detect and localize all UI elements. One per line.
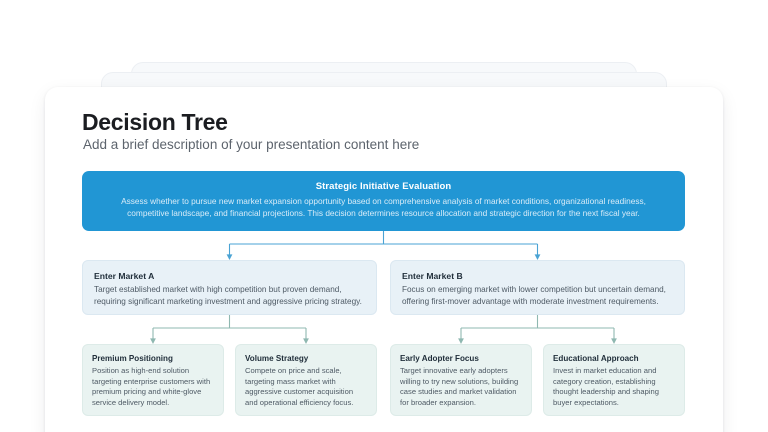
root-node-description: Assess whether to pursue new market expa…	[104, 195, 663, 219]
decision-tree: Strategic Initiative Evaluation Assess w…	[45, 87, 723, 432]
leaf-4-title: Educational Approach	[553, 353, 675, 364]
leaf-1-description: Position as high-end solution targeting …	[92, 366, 214, 408]
leaf-1-title: Premium Positioning	[92, 353, 214, 364]
branch-a-title: Enter Market A	[94, 270, 365, 282]
branch-b-description: Focus on emerging market with lower comp…	[402, 284, 673, 307]
tree-node-root[interactable]: Strategic Initiative Evaluation Assess w…	[82, 171, 685, 231]
leaf-2-title: Volume Strategy	[245, 353, 367, 364]
leaf-2-description: Compete on price and scale, targeting ma…	[245, 366, 367, 408]
leaf-3-description: Target innovative early adopters willing…	[400, 366, 522, 408]
branch-a-description: Target established market with high comp…	[94, 284, 365, 307]
tree-node-leaf-premium-positioning[interactable]: Premium Positioning Position as high-end…	[82, 344, 224, 416]
tree-node-leaf-volume-strategy[interactable]: Volume Strategy Compete on price and sca…	[235, 344, 377, 416]
slide-canvas: Decision Tree Add a brief description of…	[0, 0, 768, 432]
root-node-title: Strategic Initiative Evaluation	[104, 180, 663, 193]
leaf-3-title: Early Adopter Focus	[400, 353, 522, 364]
branch-b-title: Enter Market B	[402, 270, 673, 282]
tree-node-leaf-educational-approach[interactable]: Educational Approach Invest in market ed…	[543, 344, 685, 416]
tree-node-branch-market-a[interactable]: Enter Market A Target established market…	[82, 260, 377, 315]
tree-node-leaf-early-adopter-focus[interactable]: Early Adopter Focus Target innovative ea…	[390, 344, 532, 416]
leaf-4-description: Invest in market education and category …	[553, 366, 675, 408]
slide-card: Decision Tree Add a brief description of…	[45, 87, 723, 432]
tree-node-branch-market-b[interactable]: Enter Market B Focus on emerging market …	[390, 260, 685, 315]
